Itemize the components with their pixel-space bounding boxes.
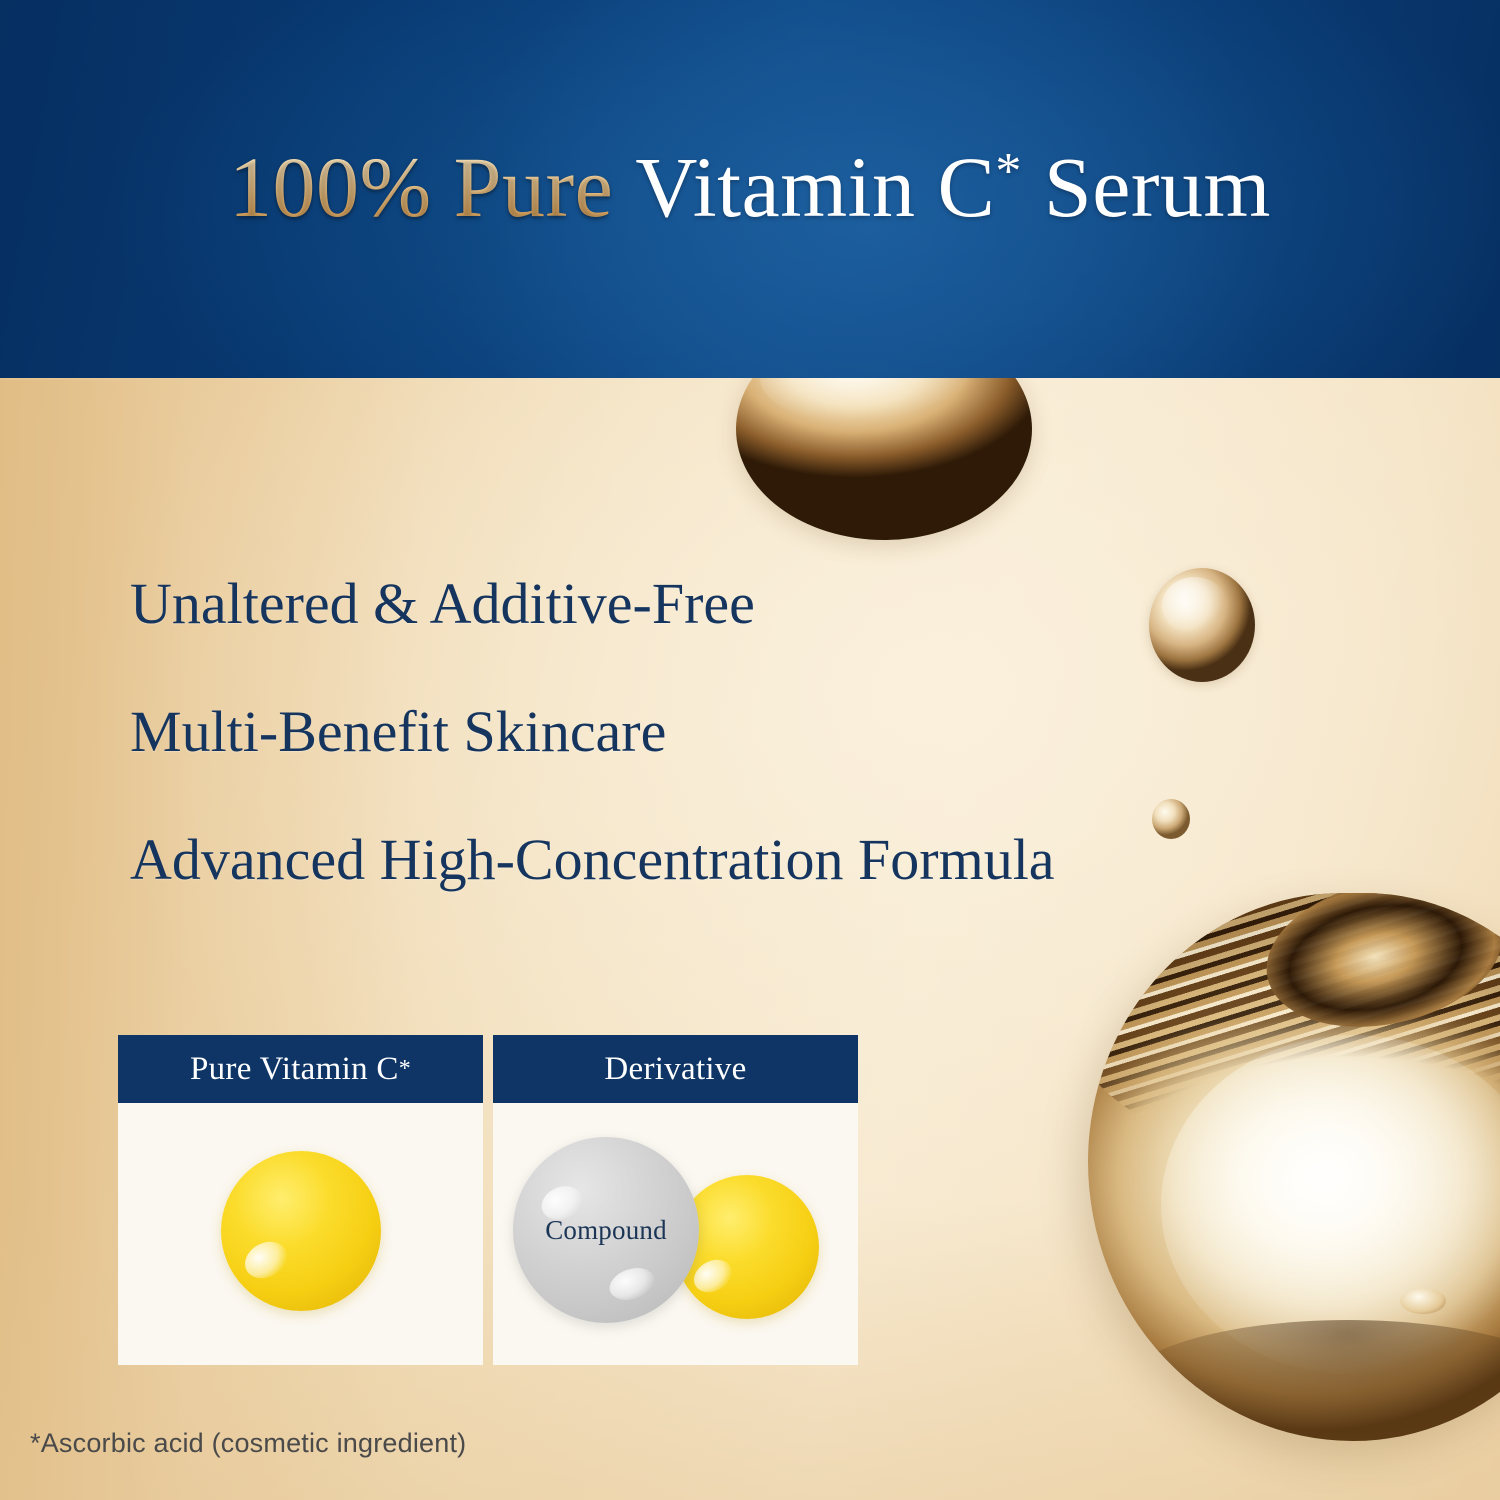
page-title: 100% Pure Vitamin C* Serum [0, 143, 1500, 232]
comparison-header-derivative: Derivative [493, 1035, 858, 1103]
feature-list: Unaltered & Additive-Free Multi-Benefit … [130, 575, 1270, 889]
comparison-header-derivative-label: Derivative [604, 1051, 746, 1088]
comparison-body-derivative: Compound [493, 1103, 858, 1365]
headline-white-tail: Serum [1022, 139, 1271, 235]
headline-white-text: Vitamin C [635, 139, 995, 235]
feature-item-2: Multi-Benefit Skincare [130, 703, 1270, 761]
comparison-column-pure: Pure Vitamin C* [118, 1035, 483, 1365]
headline-spacer [613, 139, 635, 235]
comparison-header-pure-label: Pure Vitamin C [190, 1051, 399, 1088]
comparison-body-pure [118, 1103, 483, 1365]
product-banner: 100% Pure Vitamin C* Serum Unaltered & A… [0, 0, 1500, 1500]
hero-droplet-shadow [1119, 1320, 1500, 1441]
feature-item-3: Advanced High-Concentration Formula [130, 831, 1270, 889]
headline-gold-text: 100% Pure [229, 139, 613, 235]
serum-droplet-hero-icon [1088, 893, 1500, 1441]
headline-asterisk: * [995, 143, 1022, 200]
vitamin-c-molecule-icon [221, 1151, 381, 1311]
compound-molecule-label: Compound [513, 1137, 699, 1323]
feature-item-1: Unaltered & Additive-Free [130, 575, 1270, 633]
comparison-table: Pure Vitamin C* Derivative Compound [118, 1035, 858, 1365]
hero-droplet-bubble [1400, 1288, 1446, 1314]
comparison-column-derivative: Derivative Compound [493, 1035, 858, 1365]
footnote-text: *Ascorbic acid (cosmetic ingredient) [30, 1428, 466, 1459]
comparison-header-pure: Pure Vitamin C* [118, 1035, 483, 1103]
